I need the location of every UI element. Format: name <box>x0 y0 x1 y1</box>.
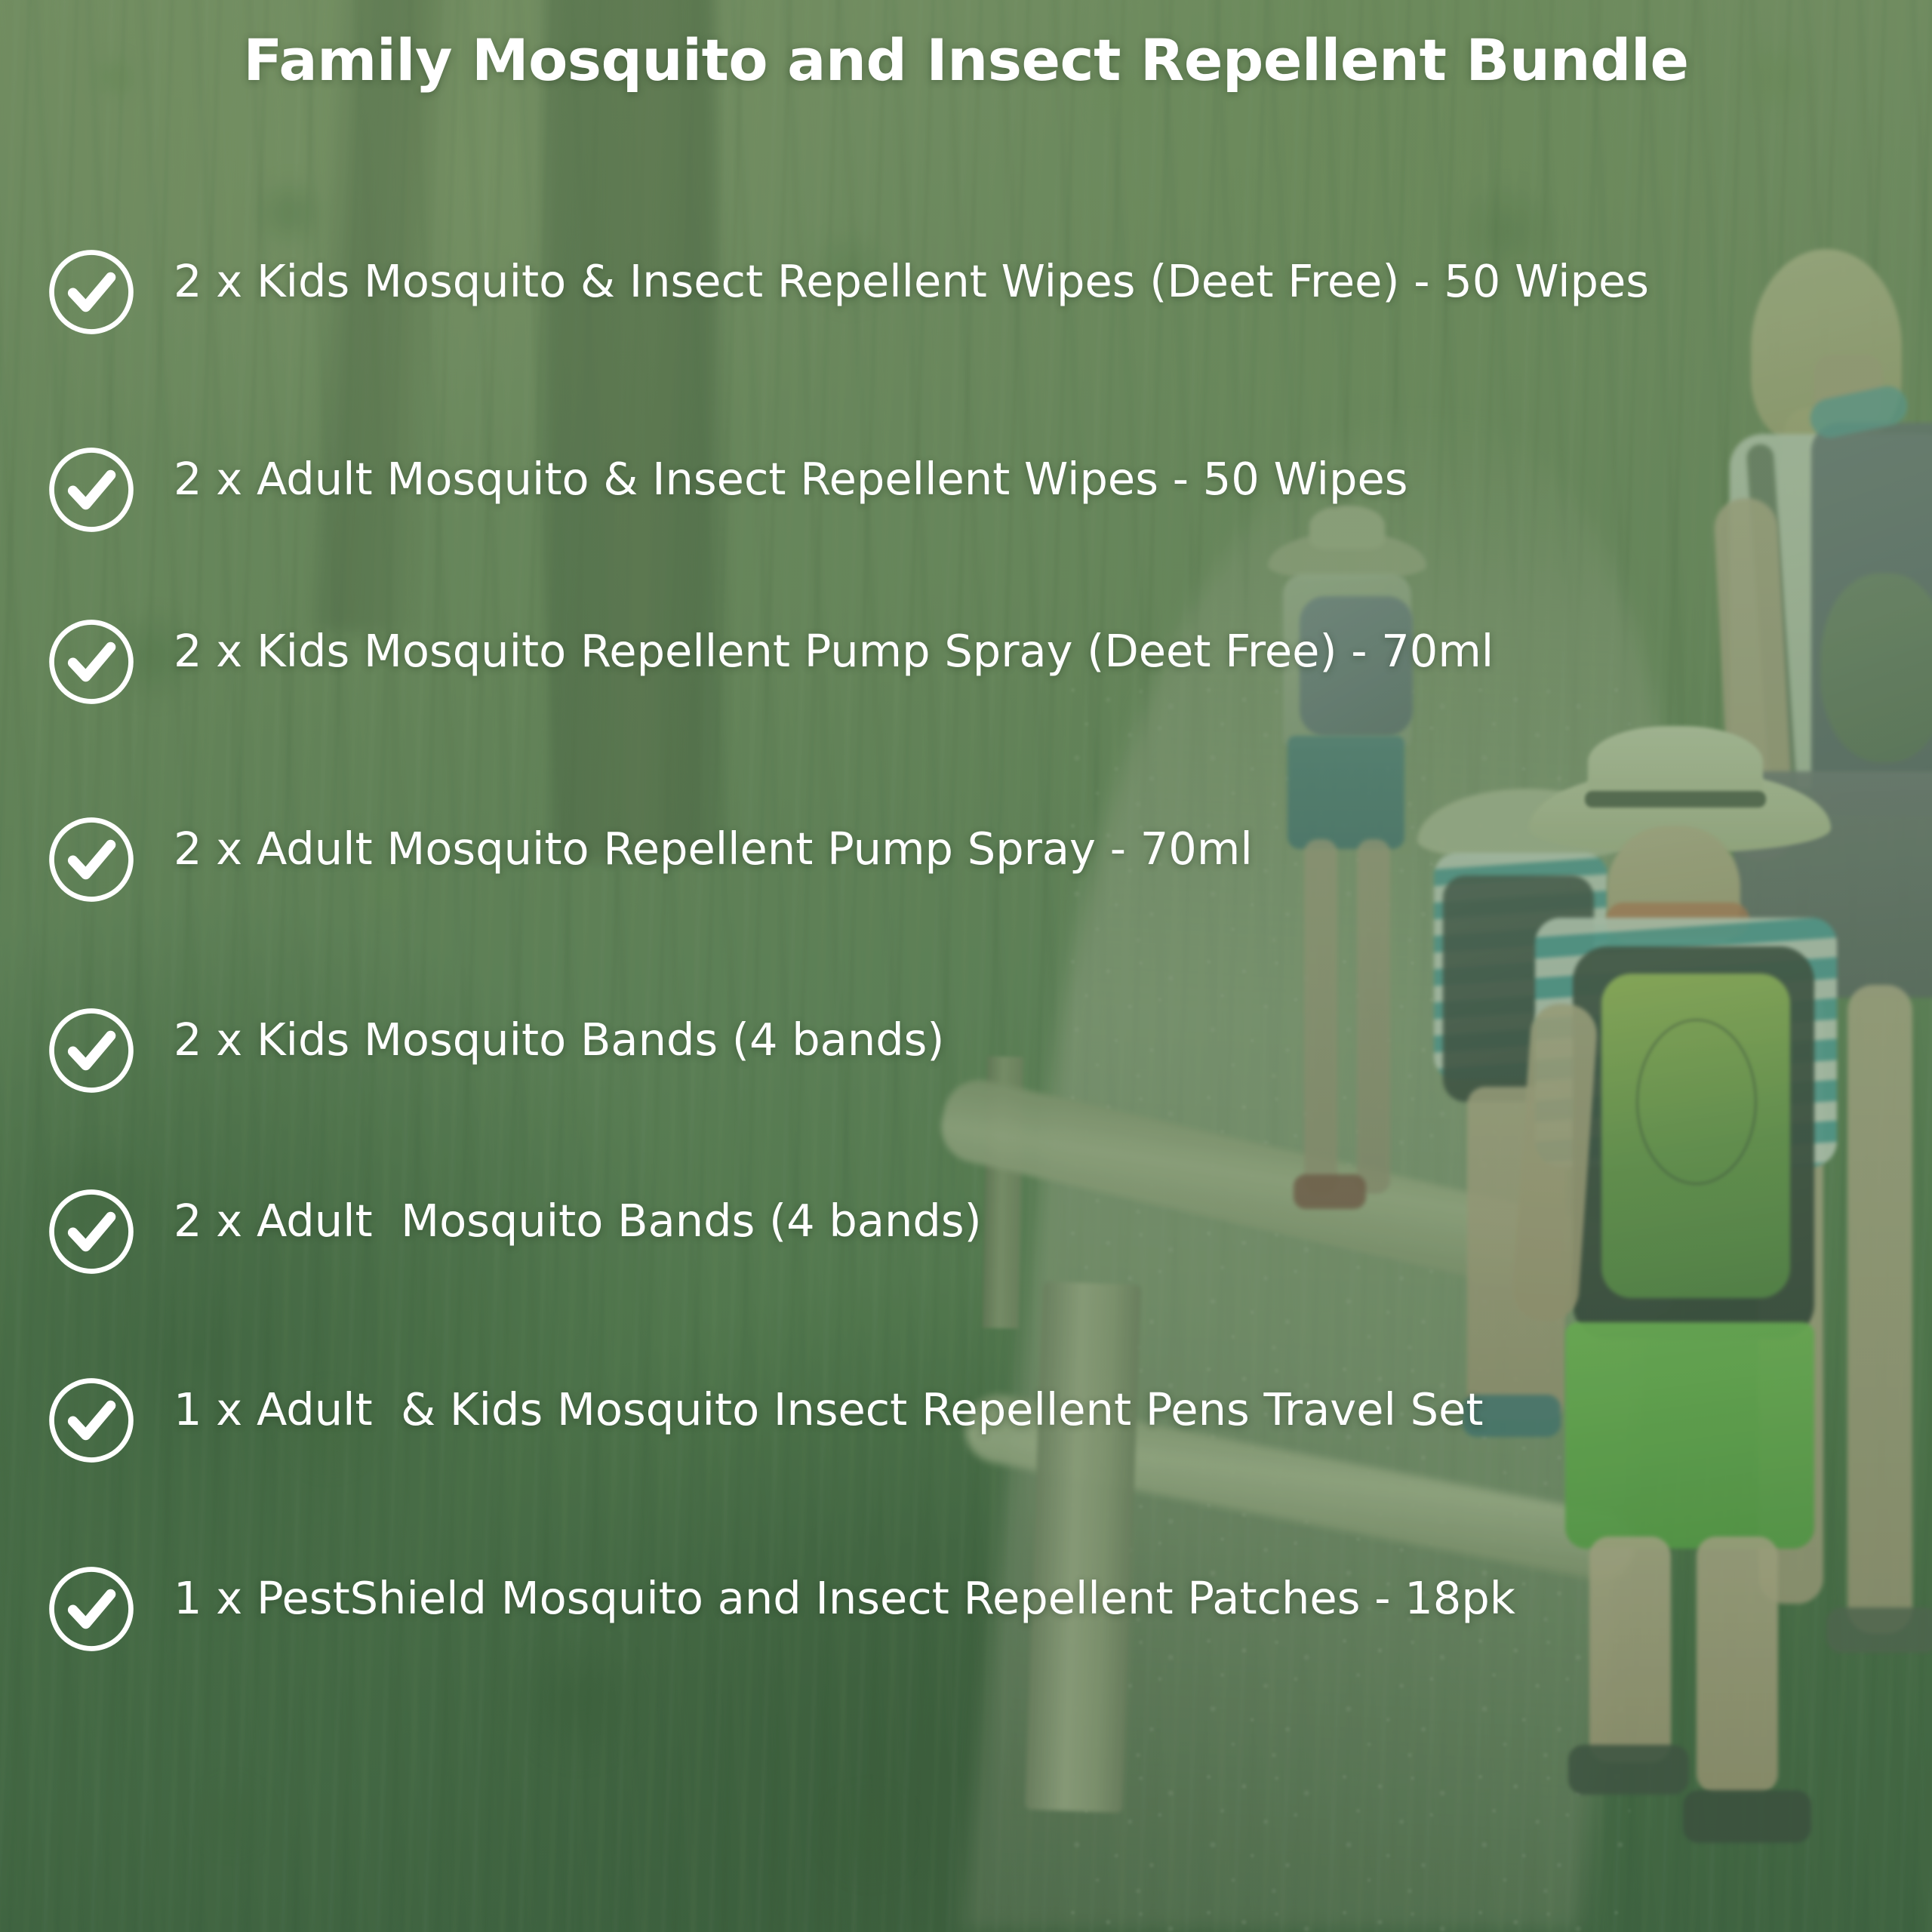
list-item: 2 x Kids Mosquito & Insect Repellent Wip… <box>45 249 1902 338</box>
list-item-label: 2 x Adult Mosquito Repellent Pump Spray … <box>137 817 1902 876</box>
list-item-label: 2 x Kids Mosquito & Insect Repellent Wip… <box>137 249 1902 309</box>
list-item: 2 x Adult Mosquito Bands (4 bands) <box>45 1189 1902 1278</box>
check-circle-icon <box>45 814 137 906</box>
check-circle-icon <box>45 1004 137 1097</box>
list-item: 2 x Kids Mosquito Bands (4 bands) <box>45 1008 1902 1097</box>
list-item: 1 x Adult & Kids Mosquito Insect Repelle… <box>45 1377 1902 1466</box>
list-item-label: 2 x Adult Mosquito & Insect Repellent Wi… <box>137 447 1902 506</box>
list-item: 2 x Kids Mosquito Repellent Pump Spray (… <box>45 619 1902 708</box>
list-item-label: 2 x Adult Mosquito Bands (4 bands) <box>137 1189 1902 1248</box>
check-circle-icon <box>45 444 137 536</box>
list-item-label: 1 x PestShield Mosquito and Insect Repel… <box>137 1566 1902 1626</box>
page-title: Family Mosquito and Insect Repellent Bun… <box>0 29 1932 92</box>
list-item-label: 2 x Kids Mosquito Bands (4 bands) <box>137 1008 1902 1067</box>
check-circle-icon <box>45 1374 137 1466</box>
check-circle-icon <box>45 616 137 708</box>
check-circle-icon <box>45 246 137 338</box>
content-layer: Family Mosquito and Insect Repellent Bun… <box>0 0 1932 1932</box>
list-item: 1 x PestShield Mosquito and Insect Repel… <box>45 1566 1902 1655</box>
check-circle-icon <box>45 1563 137 1655</box>
list-item-label: 2 x Kids Mosquito Repellent Pump Spray (… <box>137 619 1902 678</box>
list-item-label: 1 x Adult & Kids Mosquito Insect Repelle… <box>137 1377 1902 1437</box>
product-bundle-graphic: Family Mosquito and Insect Repellent Bun… <box>0 0 1932 1932</box>
list-item: 2 x Adult Mosquito & Insect Repellent Wi… <box>45 447 1902 536</box>
check-circle-icon <box>45 1186 137 1278</box>
list-item: 2 x Adult Mosquito Repellent Pump Spray … <box>45 817 1902 906</box>
